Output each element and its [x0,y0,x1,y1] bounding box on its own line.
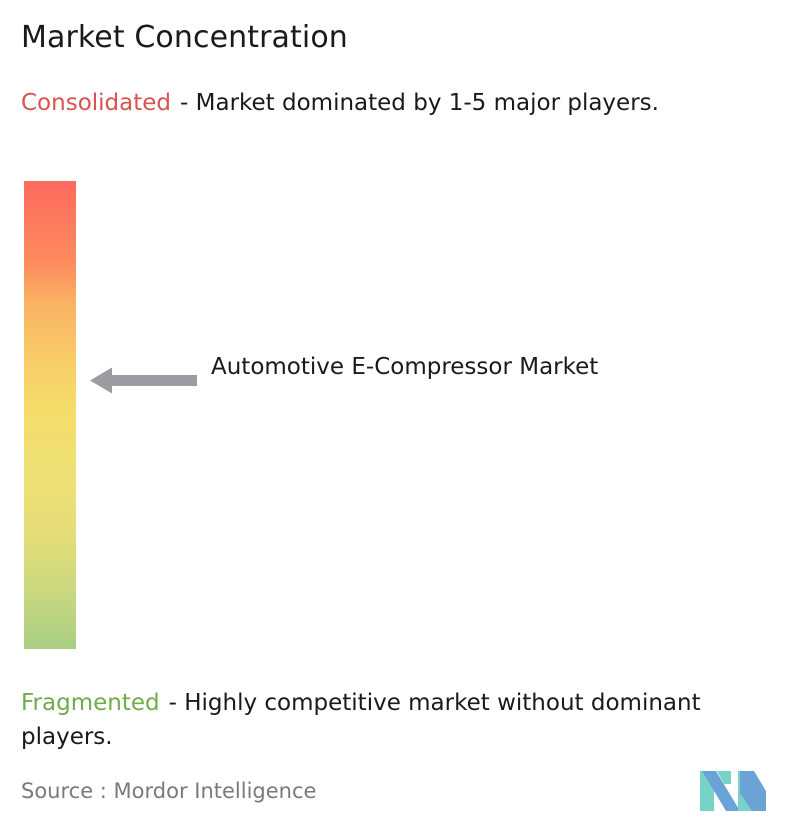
concentration-gradient-bar [24,181,76,649]
page-title: Market Concentration [21,20,348,56]
source-attribution: Source : Mordor Intelligence [21,777,316,805]
fragmented-description: Fragmented- Highly competitive market wi… [21,686,789,754]
consolidated-description: Consolidated- Market dominated by 1-5 ma… [21,86,766,120]
fragmented-keyword: Fragmented [21,690,160,716]
mordor-intelligence-logo-icon [700,771,766,811]
consolidated-description-text: - Market dominated by 1-5 major players. [180,90,659,116]
market-callout-label: Automotive E-Compressor Market [211,350,641,385]
consolidated-keyword: Consolidated [21,90,171,116]
pointer-arrow-left-icon [90,367,197,394]
market-concentration-infographic: Market Concentration Consolidated- Marke… [0,0,796,834]
